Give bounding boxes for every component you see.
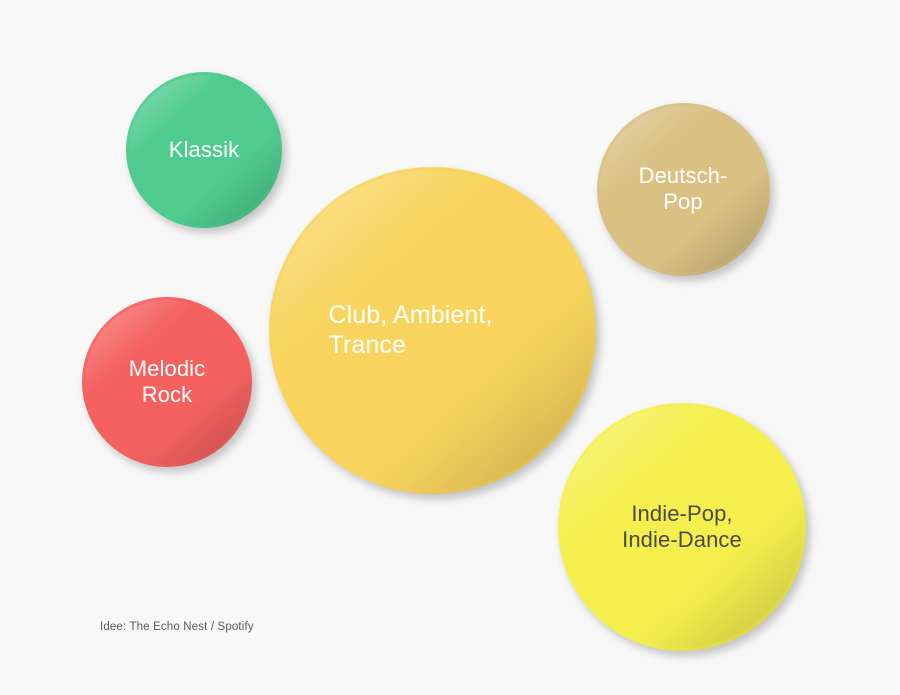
- source-caption: Idee: The Echo Nest / Spotify: [100, 621, 254, 633]
- bubble-label: Club, Ambient, Trance: [329, 300, 493, 360]
- bubble-label: Klassik: [169, 137, 239, 163]
- bubble-melodic-rock[interactable]: Melodic Rock: [82, 297, 252, 467]
- bubble-klassik[interactable]: Klassik: [126, 72, 282, 228]
- bubble-chart-canvas: Klassik Melodic Rock Club, Ambient, Tran…: [0, 0, 900, 695]
- bubble-label: Deutsch- Pop: [639, 163, 728, 216]
- bubble-club-ambient-trance[interactable]: Club, Ambient, Trance: [269, 167, 596, 494]
- bubble-label: Melodic Rock: [129, 356, 206, 409]
- bubble-indie-pop-indie-dance[interactable]: Indie-Pop, Indie-Dance: [558, 403, 806, 651]
- bubble-deutsch-pop[interactable]: Deutsch- Pop: [597, 103, 770, 276]
- bubble-label: Indie-Pop, Indie-Dance: [622, 501, 742, 554]
